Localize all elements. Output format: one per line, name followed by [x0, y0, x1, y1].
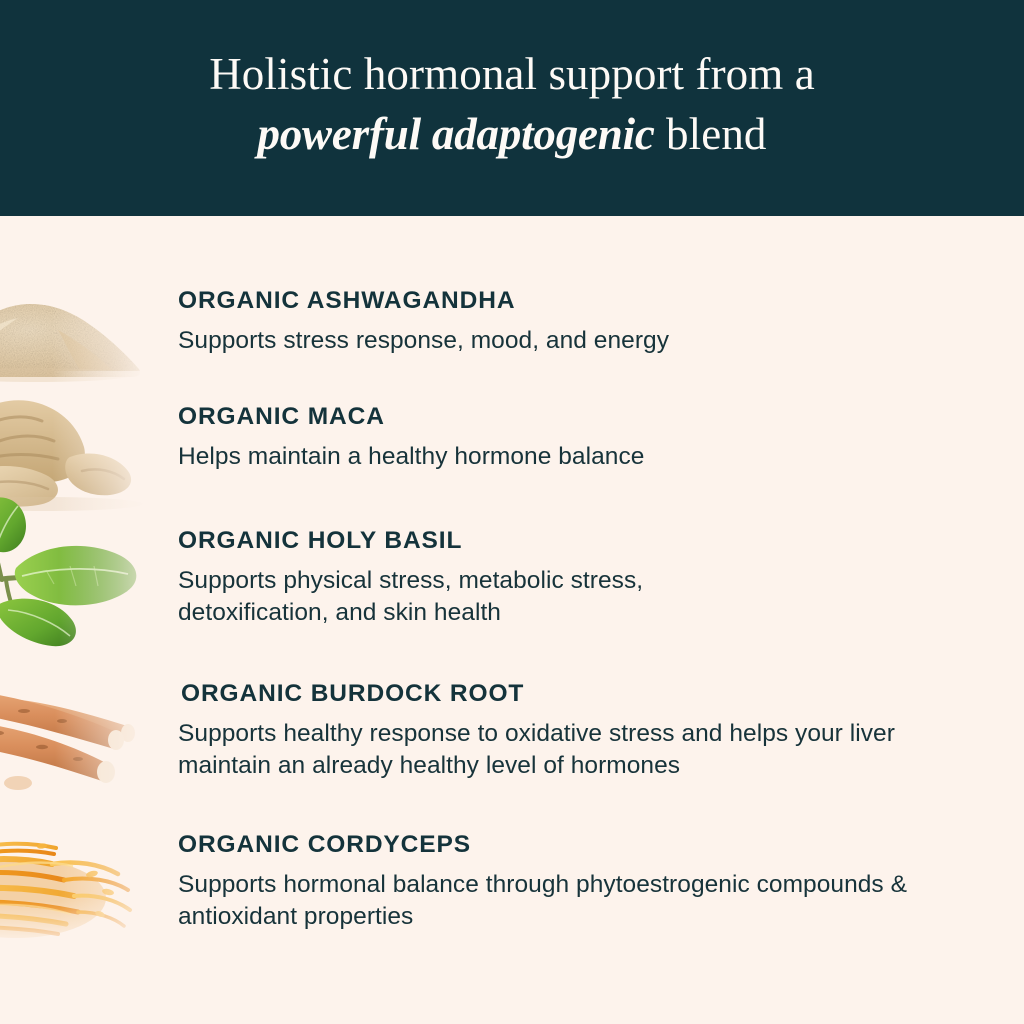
ingredient-description: Supports healthy response to oxidative s…: [178, 718, 953, 783]
ingredient-name: ORGANIC HOLY BASIL: [178, 527, 998, 556]
ingredient-description: Supports physical stress, metabolic stre…: [178, 565, 778, 630]
ingredient-description: Supports hormonal balance through phytoe…: [178, 869, 918, 934]
headline: Holistic hormonal support from a powerfu…: [209, 45, 815, 171]
headline-line-2: powerful adaptogenic blend: [209, 105, 815, 165]
headline-line-1: Holistic hormonal support from a: [209, 45, 815, 105]
ingredient-name: ORGANIC MACA: [178, 403, 998, 432]
ingredient-description: Helps maintain a healthy hormone balance: [178, 441, 998, 474]
ingredient-item-burdock-root: ORGANIC BURDOCK ROOT Supports healthy re…: [178, 680, 998, 783]
ingredient-item-ashwagandha: ORGANIC ASHWAGANDHA Supports stress resp…: [178, 287, 998, 357]
ingredient-description: Supports stress response, mood, and ener…: [178, 325, 998, 358]
headline-emphasis: powerful adaptogenic: [257, 109, 654, 159]
ingredient-infographic: Holistic hormonal support from a powerfu…: [0, 0, 1024, 1024]
ingredient-name: ORGANIC ASHWAGANDHA: [178, 287, 998, 316]
headline-line-2-rest: blend: [655, 109, 767, 159]
header-banner: Holistic hormonal support from a powerfu…: [0, 0, 1024, 216]
ingredient-name: ORGANIC BURDOCK ROOT: [181, 680, 998, 709]
ingredient-item-maca: ORGANIC MACA Helps maintain a healthy ho…: [178, 403, 998, 473]
ingredient-item-cordyceps: ORGANIC CORDYCEPS Supports hormonal bala…: [178, 831, 998, 934]
ingredient-item-holy-basil: ORGANIC HOLY BASIL Supports physical str…: [178, 527, 998, 630]
ingredient-list: ORGANIC ASHWAGANDHA Supports stress resp…: [0, 216, 1024, 1024]
ingredient-name: ORGANIC CORDYCEPS: [178, 831, 998, 860]
